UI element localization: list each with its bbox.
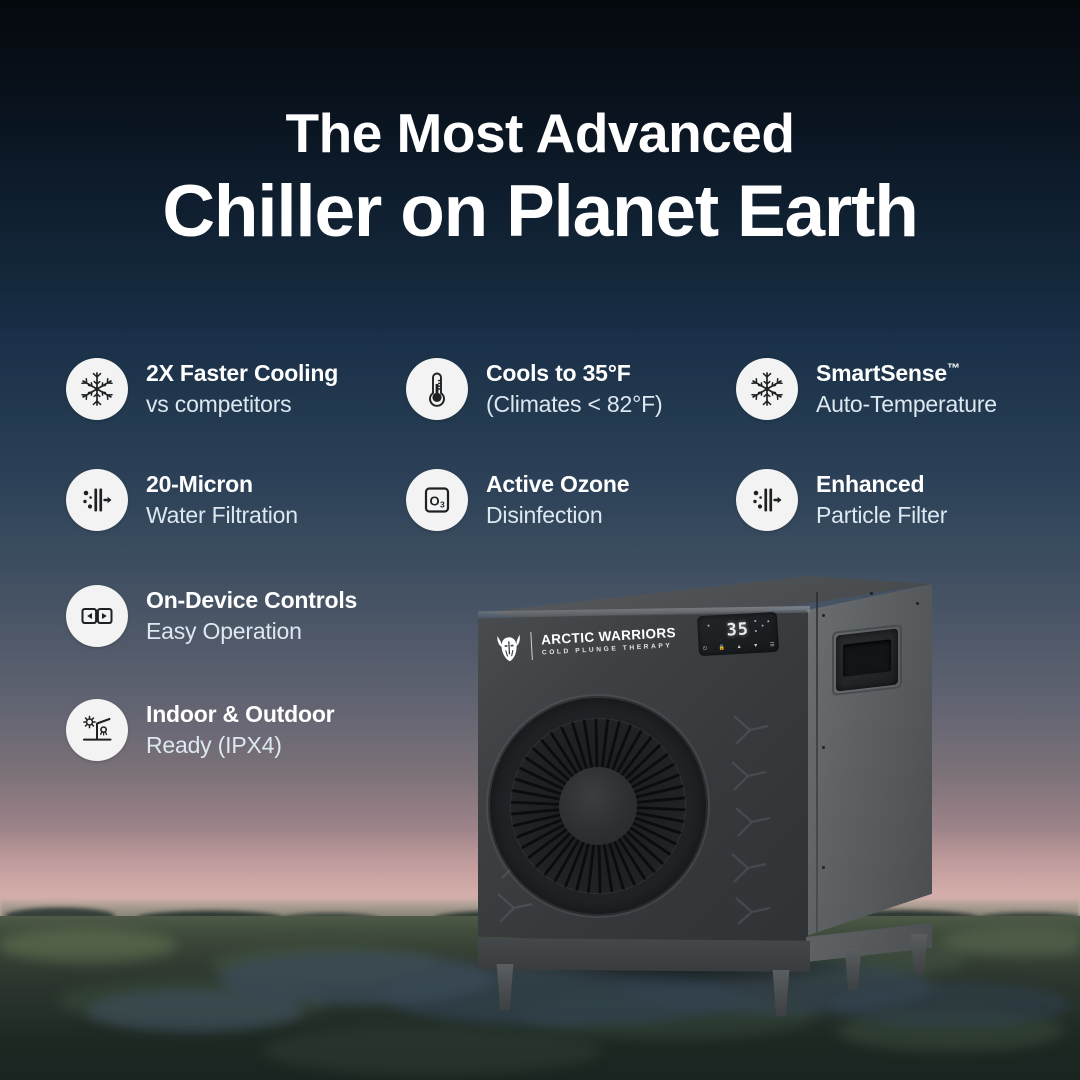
bolt (916, 602, 919, 605)
thermometer-icon (406, 358, 468, 420)
feature-text: SmartSense™ Auto-Temperature (816, 358, 997, 419)
feature-text: Indoor & Outdoor Ready (IPX4) (146, 699, 334, 760)
feature-item-20-micron[interactable]: 20-Micron Water Filtration (66, 469, 406, 531)
brand-names: ARCTIC WARRIORS COLD PLUNGE THERAPY (541, 626, 677, 657)
feature-subtitle: Ready (IPX4) (146, 731, 334, 760)
feature-text: Active Ozone Disinfection (486, 469, 629, 530)
svg-text:O: O (430, 493, 440, 508)
bolt (822, 614, 825, 617)
feature-text: Enhanced Particle Filter (816, 469, 947, 530)
ozone-icon: O 3 (406, 469, 468, 531)
up-icon: ▲ (736, 645, 741, 650)
bolt (822, 866, 825, 869)
feature-title: On-Device Controls (146, 587, 357, 614)
feature-text: 2X Faster Cooling vs competitors (146, 358, 338, 419)
poster-stage: The Most Advanced Chiller on Planet Eart… (0, 0, 1080, 1080)
side-panel-seam (816, 592, 818, 932)
snowflake-icon (736, 358, 798, 420)
feature-row-2: 20-Micron Water Filtration O 3 Active Oz… (66, 469, 1066, 531)
headline-block: The Most Advanced Chiller on Planet Eart… (0, 104, 1080, 253)
feature-row-1: 2X Faster Cooling vs competitors (66, 358, 1066, 420)
headline-line-2: Chiller on Planet Earth (0, 171, 1080, 253)
feature-subtitle: Particle Filter (816, 501, 947, 530)
product-chiller-unit: ARCTIC WARRIORS COLD PLUNGE THERAPY 35 ⏻… (470, 566, 940, 1016)
feature-item-on-device-controls[interactable]: On-Device Controls Easy Operation (66, 585, 406, 647)
indoor-outdoor-icon (66, 699, 128, 761)
headline-line-1: The Most Advanced (0, 104, 1080, 163)
controls-icon (66, 585, 128, 647)
feature-subtitle: Disinfection (486, 501, 629, 530)
feature-subtitle: vs competitors (146, 390, 338, 419)
feature-title: Enhanced (816, 471, 947, 498)
snowflake-icon (66, 358, 128, 420)
lock-icon: 🔒 (718, 646, 725, 652)
svg-text:3: 3 (440, 500, 445, 510)
feature-subtitle: Auto-Temperature (816, 390, 997, 419)
wifi-icon: ☰ (770, 643, 775, 648)
feature-subtitle: Easy Operation (146, 617, 357, 646)
brand-divider (530, 632, 533, 660)
bolt (870, 592, 873, 595)
feature-title: Active Ozone (486, 471, 629, 498)
particle-filter-icon (736, 469, 798, 531)
feature-title: 20-Micron (146, 471, 298, 498)
feature-subtitle: Water Filtration (146, 501, 298, 530)
feature-item-smartsense[interactable]: SmartSense™ Auto-Temperature (736, 358, 1066, 420)
feature-title: 2X Faster Cooling (146, 360, 338, 387)
feature-item-active-ozone[interactable]: O 3 Active Ozone Disinfection (406, 469, 736, 531)
bolt (822, 746, 825, 749)
viking-helmet-icon (495, 632, 523, 663)
feature-item-enhanced-particle-filter[interactable]: Enhanced Particle Filter (736, 469, 1066, 531)
unit-base-front (478, 938, 810, 972)
control-display-panel[interactable]: 35 ⏻ 🔒 ▲ ▼ ☰ (697, 612, 779, 656)
side-carry-handle[interactable] (836, 628, 898, 691)
feature-item-indoor-outdoor[interactable]: Indoor & Outdoor Ready (IPX4) (66, 699, 406, 761)
down-icon: ▼ (753, 644, 758, 649)
fan-bezel (486, 694, 710, 918)
feature-item-cools-to-35f[interactable]: Cools to 35°F (Climates < 82°F) (406, 358, 736, 420)
feature-text: 20-Micron Water Filtration (146, 469, 298, 530)
embossed-chevron-pattern-right (722, 712, 780, 929)
particle-filter-icon (66, 469, 128, 531)
feature-title: Indoor & Outdoor (146, 701, 334, 728)
trademark-symbol: ™ (947, 360, 960, 375)
feature-title: SmartSense™ (816, 360, 997, 387)
power-icon: ⏻ (703, 647, 707, 652)
feature-item-2x-faster-cooling[interactable]: 2X Faster Cooling vs competitors (66, 358, 406, 420)
feature-text: On-Device Controls Easy Operation (146, 585, 357, 646)
feature-subtitle: (Climates < 82°F) (486, 390, 662, 419)
feature-title: Cools to 35°F (486, 360, 662, 387)
feature-text: Cools to 35°F (Climates < 82°F) (486, 358, 662, 419)
